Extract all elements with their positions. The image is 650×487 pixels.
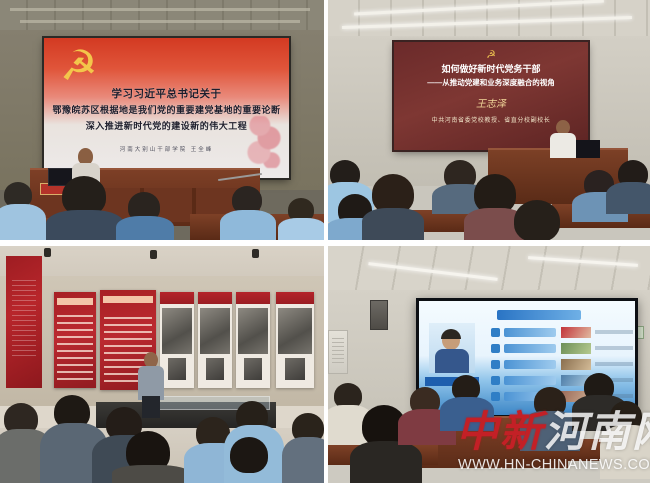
spotlight [150,250,157,259]
audience-torso [362,208,424,240]
podium-monitor [572,140,600,158]
audience-torso [116,216,174,240]
board-text [57,314,92,380]
audience-torso [606,182,650,214]
exhibition-photo-board [276,292,314,388]
slide-row [491,359,633,370]
audience-torso [220,210,276,240]
audience-torso [0,204,46,240]
portrait-photo [206,358,224,380]
historical-photo [278,308,311,354]
row-thumbnail [561,327,591,338]
visitor-head [230,437,268,473]
audience-torso [46,210,124,240]
audience [328,383,650,483]
board-caption [160,292,194,304]
presenter-body [550,133,576,158]
row-label-bar [504,328,556,337]
portrait-photo [168,358,186,380]
ceiling [0,0,324,34]
row-text [595,346,633,350]
board-caption [236,292,270,304]
panel-lecture-red-slide: ☭ 学习习近平总书记关于 鄂豫皖苏区根据地是我们党的重要建党基地的重要论断 深入… [0,0,324,240]
panel-exhibition-hall [0,246,324,483]
air-conditioner [328,330,348,374]
row-icon [491,328,500,337]
row-text [595,362,633,366]
slide-row [491,327,633,338]
exhibition-board [54,292,96,388]
row-text [595,330,633,334]
portrait-photo [244,358,262,380]
hammer-sickle-emblem: ☭ [60,44,118,88]
panel-lecture-darkred-slide: ☭ 如何做好新时代党务干部 ——从推动党建和业务深度融合的视角 王志泽 中共河南… [328,0,650,240]
row-label-bar [504,360,556,369]
audience [0,176,324,240]
audience-torso [520,411,580,451]
spotlight [44,248,51,257]
audience-torso [600,425,650,479]
presenter [550,120,576,156]
board-caption [198,292,232,304]
slide-row [491,343,633,354]
audience [328,160,650,240]
historical-photo [200,308,230,354]
row-thumbnail [561,359,591,370]
bottom-strip [0,483,650,487]
historical-photo [162,308,192,354]
exhibition-photo-board [160,292,194,388]
audience-torso [440,397,494,431]
spotlight [252,249,259,258]
row-thumbnail [561,343,591,354]
board-title [103,296,152,303]
slide-line-2: 鄂豫皖苏区根据地是我们党的重要建党基地的重要论断 [44,103,289,116]
board-title [57,298,94,305]
portrait-head [442,331,460,350]
row-icon [491,344,500,353]
audience-torso [278,218,324,240]
row-icon [491,360,500,369]
ceiling [328,246,650,296]
historical-photo [238,308,268,354]
visitor-torso [112,465,190,483]
panel-classroom-blue-slide [328,246,650,483]
speaker-portrait [429,323,475,373]
exhibition-intro-column [6,256,42,388]
slide-subtitle: ——从推动党建和业务深度融合的视角 [394,77,588,88]
ceiling-beam [20,20,300,23]
row-label-bar [504,344,556,353]
board-caption [276,292,314,304]
audience-torso [350,441,422,483]
portrait-body [435,349,469,373]
region-map-graphic [243,116,285,168]
slide-header-banner [497,310,581,320]
photo-collage: ☭ 学习习近平总书记关于 鄂豫皖苏区根据地是我们党的重要建党基地的重要论断 深入… [0,0,650,487]
exhibition-photo-board [236,292,270,388]
exhibition-photo-board [198,292,232,388]
slide-title: 如何做好新时代党务干部 [394,62,588,75]
visitors [0,395,324,483]
slide-line-1: 学习习近平总书记关于 [44,86,289,101]
visitor-torso [282,437,324,483]
ceiling-beam [10,8,310,11]
portrait-photo [285,358,305,380]
party-emblem: ☭ [394,48,588,61]
audience-head [514,200,560,240]
wall-speaker [370,300,388,330]
slide-speaker-name: 王志泽 [394,95,588,110]
